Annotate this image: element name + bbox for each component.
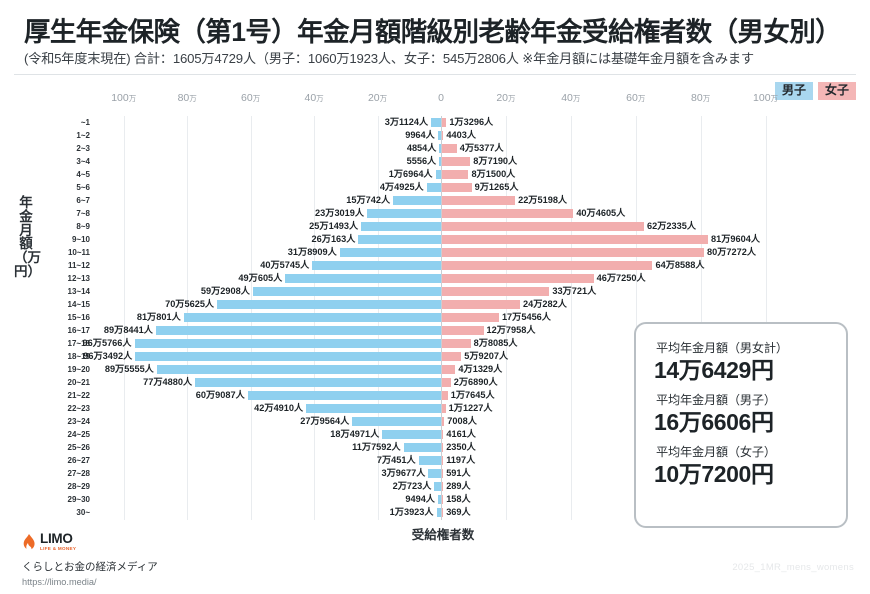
watermark: 2025_1MR_mens_womens [732, 562, 854, 573]
bar-value-male: 70万5625人 [165, 299, 214, 310]
bar-female[interactable] [442, 144, 457, 153]
bar-value-female: 4161人 [446, 429, 476, 440]
stat-label: 平均年金月額（男子） [636, 390, 846, 408]
bar-male[interactable] [312, 261, 441, 270]
bar-value-male: 42万4910人 [254, 403, 303, 414]
stat-label: 平均年金月額（女子） [636, 442, 846, 460]
bar-value-female: 12万7958人 [487, 325, 536, 336]
bar-value-male: 25万1493人 [309, 221, 358, 232]
limo-wordmark: LIMO LIFE & MONEY [40, 532, 76, 551]
bar-row: 23万3019人40万4605人 [90, 209, 800, 218]
x-tick-label: 20万 [368, 92, 387, 104]
bar-value-female: 1万3296人 [449, 117, 493, 128]
x-tick-label: 20万 [496, 92, 515, 104]
bar-male[interactable] [427, 183, 441, 192]
limo-name: LIMO [40, 532, 76, 546]
bar-male[interactable] [439, 157, 441, 166]
bar-value-female: 591人 [446, 468, 471, 479]
stat-label: 平均年金月額（男女計） [636, 338, 846, 356]
x-tick-label: 40万 [304, 92, 323, 104]
bar-male[interactable] [419, 456, 441, 465]
chart-legend: 男子 女子 [775, 82, 856, 100]
bar-value-male: 7万451人 [377, 455, 416, 466]
x-tick-label: 80万 [178, 92, 197, 104]
bar-value-female: 64万8588人 [655, 260, 704, 271]
bar-female[interactable] [442, 339, 471, 348]
bar-male[interactable] [184, 313, 441, 322]
bar-value-female: 1万7645人 [451, 390, 495, 401]
bar-male[interactable] [434, 482, 441, 491]
average-pension-box: 平均年金月額（男女計）14万6429円平均年金月額（男子）16万6606円平均年… [634, 322, 848, 528]
bar-female[interactable] [442, 157, 470, 166]
bar-male[interactable] [367, 209, 441, 218]
bar-value-female: 4403人 [446, 130, 476, 141]
bar-male[interactable] [156, 326, 441, 335]
bar-male[interactable] [404, 443, 441, 452]
stat-item: 平均年金月額（男子）16万6606円 [636, 390, 846, 437]
bar-value-male: 4万4925人 [380, 182, 424, 193]
bar-male[interactable] [306, 404, 441, 413]
bar-value-male: 81万801人 [137, 312, 181, 323]
limo-tagline-small: LIFE & MONEY [40, 547, 76, 552]
bar-male[interactable] [352, 417, 441, 426]
bar-row: 9964人4403人 [90, 131, 800, 140]
bar-row: 70万5625人24万282人 [90, 300, 800, 309]
x-axis-title-text: 受給権者数 [412, 524, 475, 543]
stat-item: 平均年金月額（女子）10万7200円 [636, 442, 846, 489]
bar-row: 59万2908人33万721人 [90, 287, 800, 296]
page-title: 厚生年金保険（第1号）年金月額階級別老齢年金受給権者数（男女別） [24, 10, 841, 49]
bar-value-male: 49万605人 [238, 273, 282, 284]
bar-male[interactable] [428, 469, 441, 478]
bar-male[interactable] [361, 222, 441, 231]
bar-value-female: 2万6890人 [454, 377, 498, 388]
bar-male[interactable] [436, 170, 441, 179]
x-tick-label: 80万 [691, 92, 710, 104]
bar-row: 3万1124人1万3296人 [90, 118, 800, 127]
bar-value-male: 9964人 [405, 130, 435, 141]
bar-male[interactable] [135, 352, 441, 361]
bar-female[interactable] [442, 495, 443, 504]
bar-row: 25万1493人62万2335人 [90, 222, 800, 231]
bar-value-female: 40万4605人 [576, 208, 625, 219]
bar-row: 81万801人17万5456人 [90, 313, 800, 322]
bar-female[interactable] [442, 183, 472, 192]
bar-female[interactable] [442, 456, 443, 465]
flame-icon [22, 534, 36, 550]
bar-male[interactable] [157, 365, 441, 374]
bar-value-female: 1197人 [446, 455, 475, 466]
bar-female[interactable] [442, 352, 461, 361]
bar-female[interactable] [442, 417, 444, 426]
bar-male[interactable] [439, 144, 441, 153]
stat-item: 平均年金月額（男女計）14万6429円 [636, 338, 846, 385]
bar-value-female: 289人 [446, 481, 471, 492]
bar-value-male: 1万6964人 [389, 169, 433, 180]
bar-female[interactable] [442, 248, 704, 257]
bar-female[interactable] [442, 170, 468, 179]
bar-male[interactable] [382, 430, 441, 439]
bar-value-female: 62万2335人 [647, 221, 696, 232]
bar-value-male: 3万1124人 [385, 117, 428, 128]
bar-value-female: 1万1227人 [449, 403, 493, 414]
bar-value-female: 81万9604人 [711, 234, 760, 245]
bar-female[interactable] [442, 469, 443, 478]
bar-value-female: 5万9207人 [464, 351, 508, 362]
x-tick-label: 100万 [753, 92, 778, 104]
bar-male[interactable] [438, 131, 441, 140]
bar-value-female: 7008人 [447, 416, 477, 427]
bar-value-female: 8万7190人 [473, 156, 517, 167]
bar-value-male: 40万5745人 [260, 260, 309, 271]
bar-value-male: 26万163人 [312, 234, 356, 245]
bar-value-male: 1万3923人 [390, 507, 434, 518]
stat-value: 14万6429円 [636, 356, 846, 385]
bar-value-male: 3万9677人 [381, 468, 425, 479]
bar-female[interactable] [442, 300, 520, 309]
bar-value-female: 17万5456人 [502, 312, 551, 323]
stat-value: 16万6606円 [636, 408, 846, 437]
bar-male[interactable] [217, 300, 441, 309]
bar-female[interactable] [442, 313, 499, 322]
bar-male[interactable] [340, 248, 441, 257]
bar-row: 1万6964人8万1500人 [90, 170, 800, 179]
bar-female[interactable] [442, 118, 446, 127]
bar-value-female: 369人 [446, 507, 471, 518]
limo-logo[interactable]: LIMO LIFE & MONEY [22, 532, 158, 551]
bar-male[interactable] [438, 495, 441, 504]
bar-row: 4万4925人9万1265人 [90, 183, 800, 192]
x-tick-label: 60万 [626, 92, 645, 104]
bar-male[interactable] [393, 196, 441, 205]
bar-male[interactable] [437, 508, 441, 517]
bar-female[interactable] [442, 365, 455, 374]
bar-value-male: 18万4971人 [330, 429, 379, 440]
chart-page: 厚生年金保険（第1号）年金月額階級別老齢年金受給権者数（男女別） (令和5年度末… [0, 0, 870, 594]
footer: LIMO LIFE & MONEY くらしとお金の経済メディア https://… [22, 532, 158, 587]
bar-female[interactable] [442, 378, 451, 387]
page-subtitle: (令和5年度末現在) 合計：1605万4729人（男子：1060万1923人、女… [24, 48, 754, 67]
x-tick-label: 60万 [241, 92, 260, 104]
bar-female[interactable] [442, 131, 443, 140]
bar-row: 31万8909人80万7272人 [90, 248, 800, 257]
bar-female[interactable] [442, 209, 573, 218]
bar-male[interactable] [253, 287, 441, 296]
bar-value-male: 89万5555人 [105, 364, 154, 375]
bar-row: 40万5745人64万8588人 [90, 261, 800, 270]
bar-value-male: 9494人 [405, 494, 435, 505]
bar-value-male: 31万8909人 [288, 247, 337, 258]
bar-female[interactable] [442, 196, 515, 205]
bar-female[interactable] [442, 261, 652, 270]
bar-value-male: 2万723人 [393, 481, 432, 492]
bar-value-female: 46万7250人 [597, 273, 646, 284]
bar-value-female: 9万1265人 [475, 182, 519, 193]
bar-male[interactable] [358, 235, 441, 244]
bar-female[interactable] [442, 287, 549, 296]
bar-value-female: 8万8085人 [474, 338, 518, 349]
stat-value: 10万7200円 [636, 460, 846, 489]
bar-value-female: 22万5198人 [518, 195, 567, 206]
bar-value-male: 96万5766人 [83, 338, 132, 349]
bar-value-male: 4854人 [407, 143, 437, 154]
footer-url[interactable]: https://limo.media/ [22, 577, 158, 587]
bar-row: 49万605人46万7250人 [90, 274, 800, 283]
bar-value-male: 5556人 [407, 156, 437, 167]
bar-value-female: 4万5377人 [460, 143, 504, 154]
bar-female[interactable] [442, 326, 484, 335]
bar-value-male: 27万9564人 [300, 416, 349, 427]
bar-value-male: 59万2908人 [201, 286, 250, 297]
x-tick-label: 40万 [561, 92, 580, 104]
bar-row: 15万742人22万5198人 [90, 196, 800, 205]
bar-row: 5556人8万7190人 [90, 157, 800, 166]
bar-value-female: 158人 [446, 494, 471, 505]
bar-male[interactable] [431, 118, 441, 127]
bar-male[interactable] [285, 274, 441, 283]
header-divider [14, 74, 856, 75]
bar-female[interactable] [442, 222, 644, 231]
bar-female[interactable] [442, 508, 443, 517]
footer-tagline: くらしとお金の経済メディア [22, 559, 158, 574]
bar-female[interactable] [442, 404, 446, 413]
bar-row: 26万163人81万9604人 [90, 235, 800, 244]
bar-value-female: 33万721人 [552, 286, 596, 297]
bar-female[interactable] [442, 443, 443, 452]
bar-value-female: 4万1329人 [458, 364, 502, 375]
bar-value-male: 23万3019人 [315, 208, 364, 219]
bar-value-female: 24万282人 [523, 299, 567, 310]
bar-value-male: 11万7592人 [352, 442, 401, 453]
bar-female[interactable] [442, 391, 448, 400]
bar-female[interactable] [442, 274, 594, 283]
bar-value-female: 80万7272人 [707, 247, 756, 258]
bar-male[interactable] [195, 378, 441, 387]
legend-item-female[interactable]: 女子 [818, 82, 856, 100]
bar-female[interactable] [442, 482, 443, 491]
bar-male[interactable] [248, 391, 441, 400]
bar-value-male: 60万9087人 [196, 390, 245, 401]
bar-value-male: 89万8441人 [104, 325, 153, 336]
bar-value-male: 77万4880人 [143, 377, 192, 388]
legend-item-male[interactable]: 男子 [775, 82, 813, 100]
x-tick-label: 0 [438, 92, 444, 104]
bar-female[interactable] [442, 235, 708, 244]
bar-value-male: 15万742人 [346, 195, 390, 206]
bar-value-female: 8万1500人 [471, 169, 515, 180]
bar-female[interactable] [442, 430, 443, 439]
bar-value-male: 96万3492人 [83, 351, 132, 362]
x-tick-label: 100万 [111, 92, 136, 104]
bar-male[interactable] [135, 339, 441, 348]
bar-row: 4854人4万5377人 [90, 144, 800, 153]
bar-value-female: 2350人 [446, 442, 476, 453]
